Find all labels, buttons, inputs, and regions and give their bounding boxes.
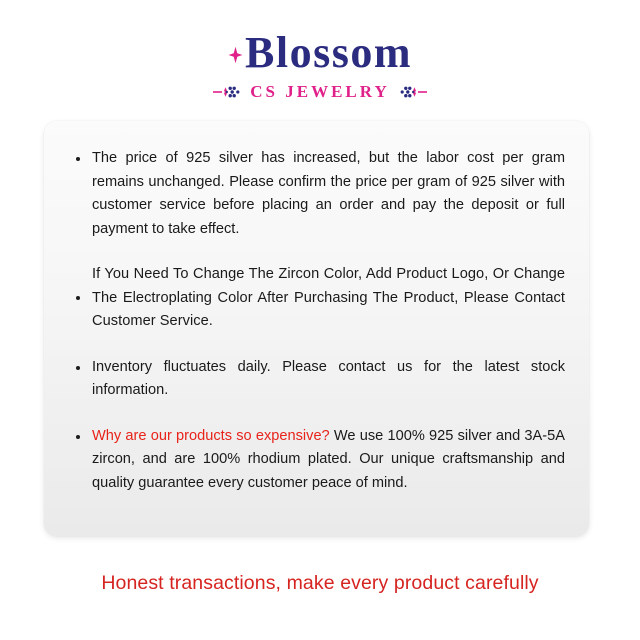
diamond-flourish-icon-left — [213, 84, 243, 100]
bullet-marker-icon — [76, 157, 80, 161]
notice-text: If You Need To Change The Zircon Color, … — [92, 263, 565, 334]
notice-text: The price of 925 silver has increased, b… — [92, 147, 565, 241]
notice-highlight: Why are our products so expensive? — [92, 428, 330, 444]
notice-text-rich: Why are our products so expensive? We us… — [92, 425, 565, 496]
list-item-inventory-notice: Inventory fluctuates daily. Please conta… — [76, 356, 565, 403]
notice-card: The price of 925 silver has increased, b… — [44, 121, 589, 536]
notice-text: Inventory fluctuates daily. Please conta… — [92, 356, 565, 403]
bullet-marker-icon — [76, 435, 80, 439]
diamond-sparkle-icon — [228, 46, 243, 64]
brand-name-row: Blossom — [0, 30, 640, 76]
bullet-marker-icon — [76, 296, 80, 300]
list-item-pricing-rationale-notice: Why are our products so expensive? We us… — [76, 425, 565, 496]
brand-subtitle: CS JEWELRY — [250, 82, 389, 102]
brand-header: Blossom CS JEWELRY — [0, 30, 640, 102]
diamond-flourish-icon-right — [397, 84, 427, 100]
brand-subtitle-row: CS JEWELRY — [0, 82, 640, 102]
bullet-marker-icon — [76, 366, 80, 370]
footer-tagline: Honest transactions, make every product … — [0, 570, 640, 596]
brand-name: Blossom — [245, 30, 412, 76]
list-item-customization-notice: If You Need To Change The Zircon Color, … — [76, 263, 565, 334]
list-item-price-notice: The price of 925 silver has increased, b… — [76, 147, 565, 241]
notice-bullet-list: The price of 925 silver has increased, b… — [76, 147, 565, 495]
promo-notice-page: Blossom CS JEWELRY — [0, 0, 640, 640]
